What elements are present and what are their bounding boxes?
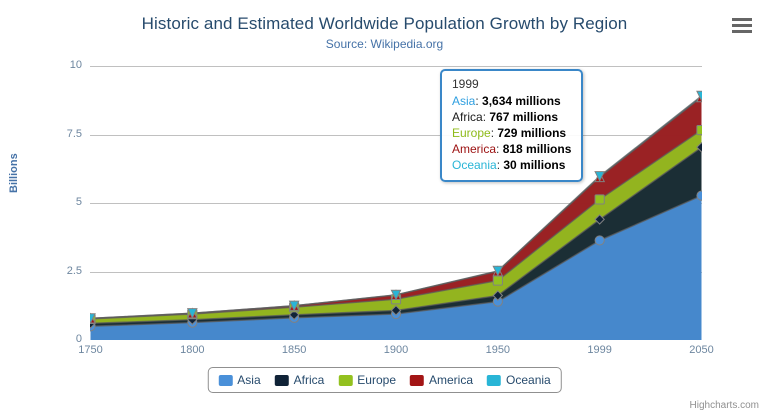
tooltip-value: 767 millions [489, 110, 558, 124]
x-tick-label: 1800 [162, 345, 222, 356]
tooltip-value: 729 millions [497, 126, 566, 140]
tooltip-row-africa: Africa: 767 millions [452, 109, 571, 125]
tooltip-value: 30 millions [503, 158, 565, 172]
x-tick-label: 1750 [61, 345, 121, 356]
x-axis-labels: 1750180018501900195019992050 [0, 0, 769, 416]
legend-item-europe[interactable]: Europe [338, 373, 396, 387]
legend-swatch-icon [487, 375, 501, 386]
legend-item-label: Europe [357, 373, 396, 387]
legend-item-asia[interactable]: Asia [218, 373, 260, 387]
legend-item-label: Oceania [506, 373, 551, 387]
legend-item-america[interactable]: America [410, 373, 473, 387]
tooltip-row-america: America: 818 millions [452, 141, 571, 157]
tooltip-series-name: Africa [452, 110, 483, 124]
x-tick-label: 2050 [672, 345, 732, 356]
highcharts-container: Historic and Estimated Worldwide Populat… [0, 0, 769, 416]
legend-swatch-icon [218, 375, 232, 386]
tooltip-separator: : [496, 142, 503, 156]
legend-item-oceania[interactable]: Oceania [487, 373, 551, 387]
x-tick-label: 1950 [468, 345, 528, 356]
x-tick-label: 1999 [570, 345, 630, 356]
tooltip-row-europe: Europe: 729 millions [452, 125, 571, 141]
tooltip-series-name: Europe [452, 126, 491, 140]
tooltip-row-oceania: Oceania: 30 millions [452, 157, 571, 173]
tooltip-series-name: Asia [452, 94, 475, 108]
legend-item-label: America [429, 373, 473, 387]
tooltip-value: 818 millions [503, 142, 572, 156]
legend-swatch-icon [410, 375, 424, 386]
tooltip-value: 3,634 millions [482, 94, 561, 108]
legend-swatch-icon [338, 375, 352, 386]
legend-item-africa[interactable]: Africa [275, 373, 325, 387]
chart-legend: AsiaAfricaEuropeAmericaOceania [207, 367, 561, 393]
tooltip-header: 1999 [452, 77, 571, 91]
tooltip-row-asia: Asia: 3,634 millions [452, 93, 571, 109]
x-tick-label: 1850 [264, 345, 324, 356]
tooltip-series-name: America [452, 142, 496, 156]
legend-item-label: Asia [237, 373, 260, 387]
legend-swatch-icon [275, 375, 289, 386]
chart-tooltip: 1999 Asia: 3,634 millionsAfrica: 767 mil… [440, 69, 583, 182]
tooltip-separator: : [475, 94, 482, 108]
credits-link[interactable]: Highcharts.com [690, 400, 759, 411]
tooltip-series-name: Oceania [452, 158, 497, 172]
legend-item-label: Africa [294, 373, 325, 387]
tooltip-rows: Asia: 3,634 millionsAfrica: 767 millions… [452, 93, 571, 173]
x-tick-label: 1900 [366, 345, 426, 356]
